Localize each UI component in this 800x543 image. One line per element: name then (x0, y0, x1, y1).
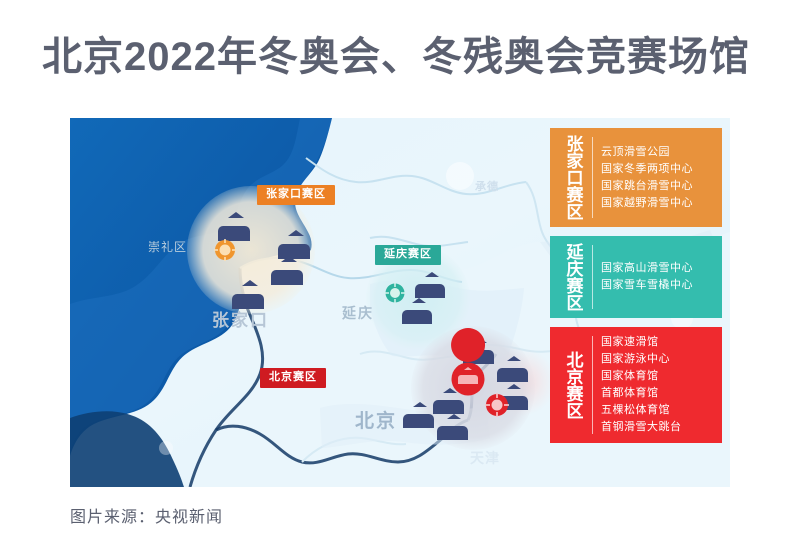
map-badge-beijing: 北京赛区 (260, 368, 326, 388)
legend-divider (592, 245, 593, 309)
legend-item: 国家体育馆 (601, 368, 716, 385)
legend-item: 国家游泳中心 (601, 351, 716, 368)
legend-title-zhangjiakou: 张家口赛区 (558, 135, 588, 220)
legend-panels: 张家口赛区 云顶滑雪公园 国家冬季两项中心 国家跳台滑雪中心 国家越野滑雪中心 … (550, 128, 722, 452)
legend-title-yanqing: 延庆赛区 (558, 243, 588, 311)
legend-item: 国家越野滑雪中心 (601, 195, 716, 212)
legend-item: 云顶滑雪公园 (601, 144, 716, 161)
legend-divider (592, 336, 593, 434)
legend-item: 国家高山滑雪中心 (601, 260, 716, 277)
map-figure: 崇礼区 张家口赛区 延庆赛区 北京赛区 张家口 延庆 北京 承德 天津 张家口赛… (70, 118, 730, 487)
legend-panel-zhangjiakou: 张家口赛区 云顶滑雪公园 国家冬季两项中心 国家跳台滑雪中心 国家越野滑雪中心 (550, 128, 722, 227)
city-label-yanqing: 延庆 (342, 303, 374, 323)
city-label-zhangjiakou: 张家口 (212, 306, 269, 331)
map-badge-yanqing: 延庆赛区 (375, 245, 441, 265)
legend-panel-yanqing: 延庆赛区 国家高山滑雪中心 国家雪车雪橇中心 (550, 236, 722, 318)
image-source-caption: 图片来源：央视新闻 (70, 503, 223, 527)
legend-item: 国家冬季两项中心 (601, 161, 716, 178)
city-label-tianjin: 天津 (470, 448, 500, 468)
legend-title-beijing: 北京赛区 (558, 334, 588, 436)
legend-item: 国家雪车雪橇中心 (601, 277, 716, 294)
map-badge-zhangjiakou: 张家口赛区 (257, 185, 335, 205)
svg-text:崇礼区: 崇礼区 (148, 239, 187, 254)
legend-items-zhangjiakou: 云顶滑雪公园 国家冬季两项中心 国家跳台滑雪中心 国家越野滑雪中心 (601, 135, 716, 220)
legend-divider (592, 137, 593, 218)
city-label-beijing: 北京 (355, 406, 397, 433)
legend-items-yanqing: 国家高山滑雪中心 国家雪车雪橇中心 (601, 243, 716, 311)
legend-item: 首都体育馆 (601, 385, 716, 402)
legend-item: 国家速滑馆 (601, 334, 716, 351)
legend-item: 首钢滑雪大跳台 (601, 419, 716, 436)
legend-item: 国家跳台滑雪中心 (601, 178, 716, 195)
legend-items-beijing: 国家速滑馆 国家游泳中心 国家体育馆 首都体育馆 五棵松体育馆 首钢滑雪大跳台 (601, 334, 716, 436)
city-label-chengde: 承德 (475, 178, 499, 194)
page-title: 北京2022年冬奥会、冬残奥会竞赛场馆 (42, 33, 762, 81)
legend-panel-beijing: 北京赛区 国家速滑馆 国家游泳中心 国家体育馆 首都体育馆 五棵松体育馆 首钢滑… (550, 327, 722, 443)
legend-item: 五棵松体育馆 (601, 402, 716, 419)
